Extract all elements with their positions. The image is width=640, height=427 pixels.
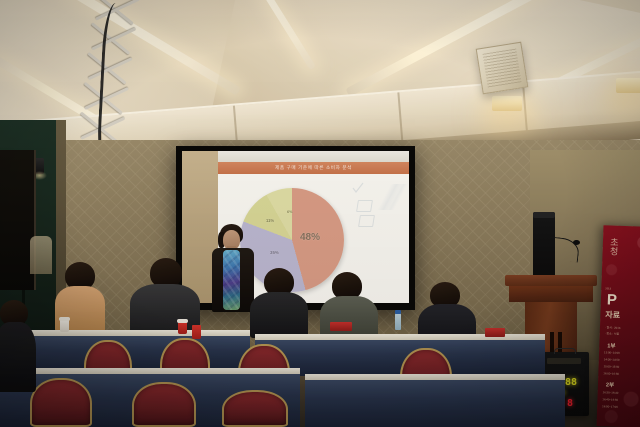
banner-section-heading: 1부 [607, 341, 615, 349]
check-icon [352, 182, 364, 194]
banner-logo-letter: P [607, 291, 617, 308]
podium-face [509, 286, 593, 302]
banner-section-heading: 2부 [606, 380, 614, 388]
slide-title: 제품 구매 기준에 따른 소비자 분석 [275, 165, 352, 171]
timer-label-strip [547, 358, 581, 364]
checklist-watermark-icon [351, 184, 403, 232]
event-roll-banner: 초청 2013 P 자료 · 일시 : 2013. · 장소 : 서울 1부 1… [597, 225, 640, 427]
banner-small-text: 2013 [605, 287, 611, 290]
name-card [485, 328, 505, 337]
wall-sconce [35, 158, 44, 174]
water-bottle [395, 313, 401, 330]
pie-label-3: 11% [266, 218, 274, 223]
banner-subtitle: 자료 [605, 309, 620, 321]
pie-label-1: 48% [300, 232, 320, 243]
banquet-chair [222, 390, 288, 427]
wall-wash-light [616, 78, 640, 93]
presenter-scarf [223, 250, 240, 310]
banner-time: 14:00~14:50 [604, 357, 620, 362]
coffee-cup [192, 325, 201, 339]
mic-head-icon [573, 240, 580, 245]
slide-top-band [218, 151, 409, 162]
banner-top-text: 초청 [607, 237, 621, 255]
attendee [130, 258, 200, 328]
banquet-chair [132, 382, 196, 427]
banner-time: 16:30~16:40 [603, 390, 619, 395]
banner-time: 16:50~17:00 [602, 404, 618, 409]
presentation-room-photo: 제품 구매 기준에 따른 소비자 분석 48% 35% 11% 6% [0, 0, 640, 427]
timer-digit: 88 [565, 378, 577, 388]
banner-detail: · 장소 : 서울 [605, 331, 619, 335]
presenter-chair [30, 236, 52, 274]
banner-detail: · 일시 : 2013. [605, 325, 621, 330]
attendee [55, 262, 105, 324]
slide-title-bar: 제품 구매 기준에 따른 소비자 분석 [218, 162, 409, 174]
coffee-cup [60, 320, 69, 332]
name-card [330, 322, 352, 331]
banquet-chair [30, 378, 92, 427]
banner-time: 16:00~16:50 [603, 371, 619, 376]
attendee [250, 268, 308, 330]
timer-digit: 8 [567, 399, 573, 409]
coffee-cup [178, 322, 187, 334]
bottle-cap [395, 310, 401, 314]
wall-wash-light [492, 96, 522, 111]
pie-label-2: 35% [270, 250, 279, 255]
banner-time: 16:40~16:50 [602, 397, 618, 402]
pie-label-4: 6% [287, 210, 293, 214]
banner-time: 15:00~15:50 [604, 364, 620, 369]
timer-handle [554, 348, 576, 354]
podium-top [505, 275, 597, 286]
attendee [0, 300, 34, 390]
ceiling-speaker [476, 42, 529, 95]
banquet-table [305, 380, 565, 427]
banner-time: 13:00~14:00 [604, 350, 620, 355]
speaker-top [533, 212, 555, 218]
